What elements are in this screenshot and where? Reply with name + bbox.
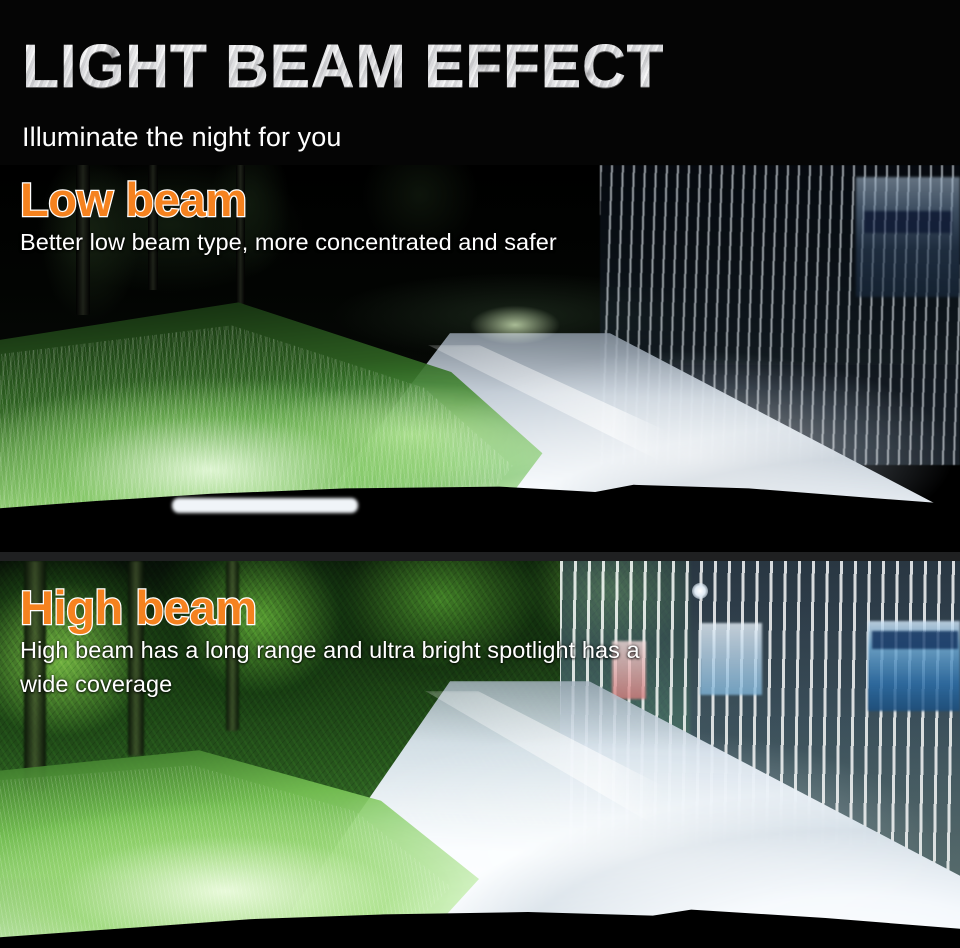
high-beam-panel: High beam High beam has a long range and… [0,561,960,948]
high-beam-heading: High beam [20,583,700,632]
windshield-wiper [172,498,358,513]
low-beam-panel: Low beam Better low beam type, more conc… [0,165,960,555]
distant-light-glow [455,295,575,355]
roadside-billboard [856,177,960,297]
low-beam-caption: Low beam Better low beam type, more conc… [0,167,700,260]
page-subtitle: Illuminate the night for you [22,124,341,151]
page-title: LIGHT BEAM EFFECT [22,36,664,97]
panel-divider [0,552,960,561]
headlight-beam-glow [300,691,960,948]
high-beam-caption: High beam High beam has a long range and… [0,575,700,701]
low-beam-description: Better low beam type, more concentrated … [20,226,640,259]
light-beam-effect-infographic: LIGHT BEAM EFFECT Illuminate the night f… [0,0,960,948]
low-beam-heading: Low beam [20,175,700,224]
high-beam-description: High beam has a long range and ultra bri… [20,634,640,701]
header-banner: LIGHT BEAM EFFECT Illuminate the night f… [0,0,960,165]
roadside-sign [700,623,762,695]
